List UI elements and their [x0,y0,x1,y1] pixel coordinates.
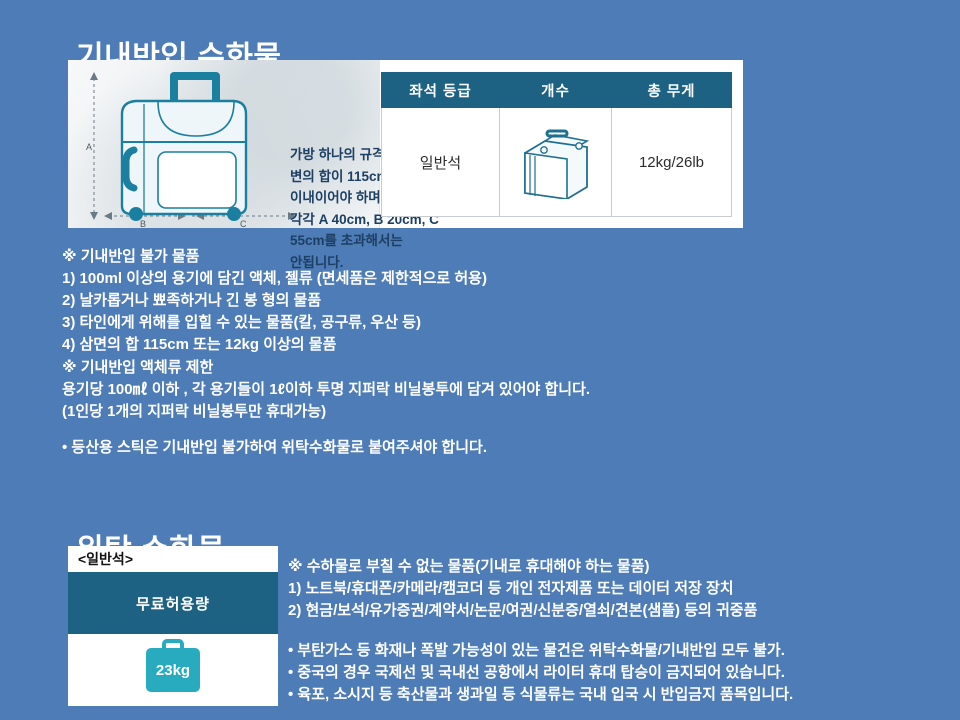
card-allowance-label: 무료허용량 [68,572,278,634]
card-allowance-value: 23kg [156,662,190,679]
column-header-total-weight: 총 무게 [612,73,732,108]
checked-note: • 부탄가스 등 화재나 폭발 가능성이 있는 물건은 위탁수화물/기내반입 모… [288,640,793,662]
svg-text:C: C [240,219,247,228]
table-header-row: 좌석 등급 개수 총 무게 [382,73,732,108]
checked-note: • 육포, 소시지 등 축산물과 생과일 등 식물류는 국내 입국 시 반입금지… [288,684,793,706]
table-row: 일반석 12kg/26lb [382,108,732,217]
checked-allowance-card: <일반석> 무료허용량 23kg [68,546,278,706]
liquid-item: (1인당 1개의 지퍼락 비닐봉투만 휴대가능) [62,401,590,423]
prohibited-items-block: ※ 기내반입 불가 물품 1) 100ml 이상의 용기에 담긴 액체, 젤류 … [62,246,487,356]
svg-text:B: B [140,219,146,228]
stick-note-text: • 등산용 스틱은 기내반입 불가하여 위탁수화물로 붙여주셔야 합니다. [62,437,487,459]
carry-on-panel: A B C [68,60,743,228]
prohibited-item: 1) 100ml 이상의 용기에 담긴 액체, 젤류 (면세품은 제한적으로 허… [62,268,487,290]
suitcase-icon: 23kg [146,648,200,692]
checked-notes-block: • 부탄가스 등 화재나 폭발 가능성이 있는 물건은 위탁수화물/기내반입 모… [288,640,793,706]
cell-total-weight: 12kg/26lb [612,108,732,217]
briefcase-icon [511,125,601,199]
carry-on-allowance-table: 좌석 등급 개수 총 무게 일반석 [381,72,732,217]
prohibited-item: 3) 타인에게 위해를 입힐 수 있는 물품(칼, 공구류, 우산 등) [62,312,487,334]
liquid-restriction-block: ※ 기내반입 액체류 제한 용기당 100㎖ 이하 , 각 용기들이 1ℓ이하 … [62,357,590,423]
prohibited-item: 2) 날카롭거나 뾰족하거나 긴 봉 형의 물품 [62,290,487,312]
not-allowed-in-checked-block: ※ 수하물로 부칠 수 없는 물품(기내로 휴대해야 하는 물품) 1) 노트북… [288,556,757,622]
not-allowed-item: 2) 현금/보석/유가증권/계약서/논문/여권/신분증/열쇠/견본(샘플) 등의… [288,600,757,622]
cell-seat-class: 일반석 [382,108,500,217]
liquid-heading: ※ 기내반입 액체류 제한 [62,357,590,379]
trekking-stick-note: • 등산용 스틱은 기내반입 불가하여 위탁수화물로 붙여주셔야 합니다. [62,437,487,459]
not-allowed-item: 1) 노트북/휴대폰/카메라/캠코더 등 개인 전자제품 또는 데이터 저장 장… [288,578,757,600]
cell-count [500,108,612,217]
column-header-count: 개수 [500,73,612,108]
svg-text:A: A [86,142,92,152]
slide-root: 기내반입 수화물 A B [0,0,960,720]
not-allowed-heading: ※ 수하물로 부칠 수 없는 물품(기내로 휴대해야 하는 물품) [288,556,757,578]
card-seat-class: <일반석> [68,546,278,572]
card-allowance-body: 23kg [68,634,278,706]
liquid-item: 용기당 100㎖ 이하 , 각 용기들이 1ℓ이하 투명 지퍼락 비닐봉투에 담… [62,379,590,401]
checked-note: • 중국의 경우 국제선 및 국내선 공항에서 라이터 휴대 탑승이 금지되어 … [288,662,793,684]
prohibited-item: 4) 삼면의 합 115cm 또는 12kg 이상의 물품 [62,334,487,356]
prohibited-heading: ※ 기내반입 불가 물품 [62,246,487,268]
column-header-seat-class: 좌석 등급 [382,73,500,108]
